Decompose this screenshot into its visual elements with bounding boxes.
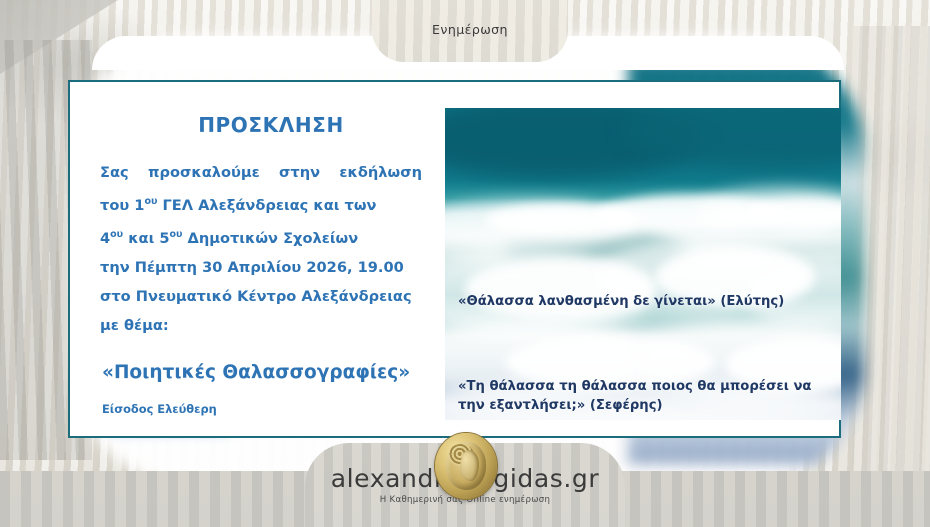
event-theme-title: «Ποιητικές Θαλασσογραφίες» [102,362,424,383]
invitation-line-6: με θέμα: [100,311,422,340]
invitation-text-column: ΠΡΟΣΚΛΗΣΗ Σας προσκαλούμε στην εκδήλωση … [68,80,446,438]
ordinal-suffix: ου [144,196,157,207]
photo-caption-2: «Τη θάλασσα τη θάλασσα ποιος θα μπορέσει… [458,378,836,415]
header-label: Ενημέρωση [372,22,568,37]
invitation-title: ΠΡΟΣΚΛΗΣΗ [118,113,424,137]
alexander-coin-logo [435,433,497,499]
invitation-body: Σας προσκαλούμε στην εκδήλωση του 1ου ΓΕ… [100,158,422,340]
sea-wave-photo: «Θάλασσα λανθασμένη δε γίνεται» (Ελύτης)… [445,108,841,420]
photo-caption-1: «Θάλασσα λανθασμένη δε γίνεται» (Ελύτης) [458,293,830,312]
free-entry-note: Είσοδος Ελεύθερη [102,402,424,416]
invitation-line-4: την Πέμπτη 30 Απριλίου 2026, 19.00 [100,253,422,282]
coin-profile [460,450,479,481]
invitation-line-3: 4ου και 5ου Δημοτικών Σχολείων [100,220,422,253]
ordinal-suffix: ου [110,229,123,240]
invitation-line-5: στο Πνευματικό Κέντρο Αλεξάνδρειας [100,282,422,311]
ordinal-suffix: ου [170,229,183,240]
invitation-card-content: ΠΡΟΣΚΛΗΣΗ Σας προσκαλούμε στην εκδήλωση … [68,80,841,438]
invitation-line-2: του 1ου ΓΕΛ Αλεξάνδρειας και των [100,187,422,220]
invitation-line-1: Σας προσκαλούμε στην εκδήλωση [100,158,422,187]
